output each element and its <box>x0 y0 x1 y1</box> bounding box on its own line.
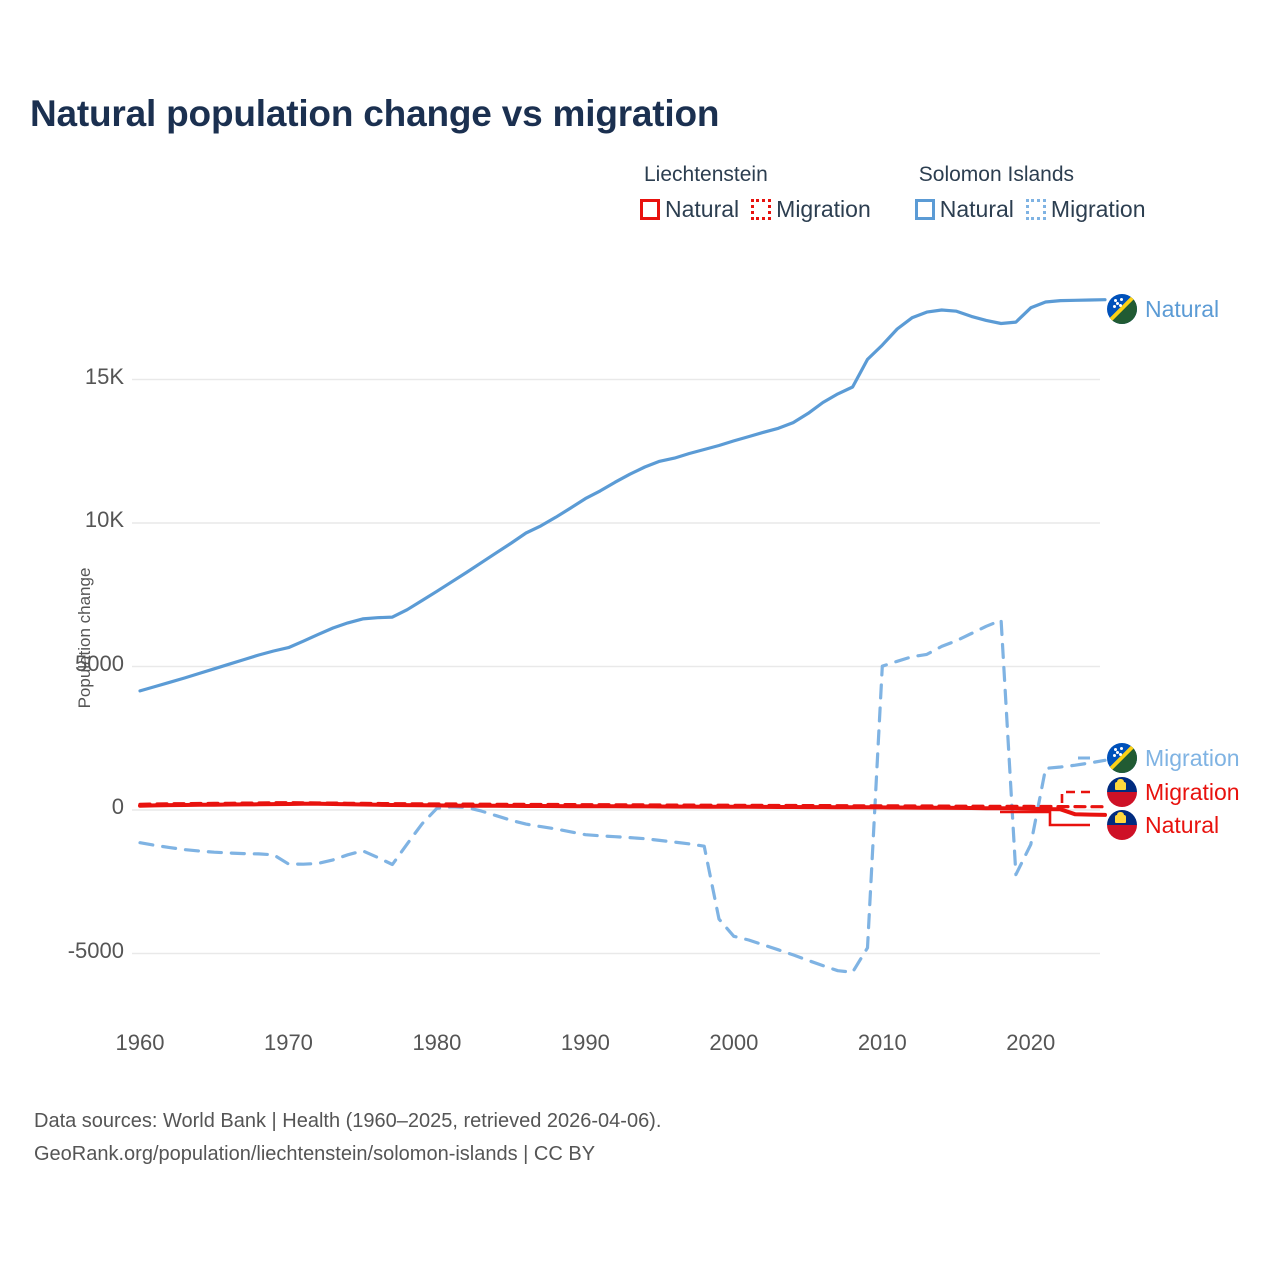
y-tick-label: 0 <box>14 794 124 820</box>
chart-svg <box>0 0 1280 1280</box>
liechtenstein-flag-icon <box>1107 810 1137 840</box>
x-tick-label: 1990 <box>525 1030 645 1056</box>
y-tick-label: 15K <box>14 364 124 390</box>
footer-line-2: GeoRank.org/population/liechtenstein/sol… <box>34 1138 661 1171</box>
y-tick-label: -5000 <box>14 938 124 964</box>
y-tick-label: 10K <box>14 507 124 533</box>
end-label-solomon-natural[interactable]: Natural <box>1107 294 1219 324</box>
end-label-text: Natural <box>1145 296 1219 323</box>
x-tick-label: 2010 <box>822 1030 942 1056</box>
y-tick-label: 5000 <box>14 651 124 677</box>
solomon-islands-flag-icon <box>1107 294 1137 324</box>
end-label-text: Migration <box>1145 745 1240 772</box>
y-axis-title: Population change <box>75 538 95 738</box>
end-label-text: Natural <box>1145 812 1219 839</box>
end-label-text: Migration <box>1145 779 1240 806</box>
leader-liechtenstein-migration <box>1062 792 1090 806</box>
end-label-liechtenstein-natural[interactable]: Natural <box>1107 810 1219 840</box>
x-tick-label: 2020 <box>971 1030 1091 1056</box>
liechtenstein-flag-icon <box>1107 777 1137 807</box>
chart-plot-area <box>0 0 1280 1280</box>
x-tick-label: 1970 <box>228 1030 348 1056</box>
x-tick-label: 2000 <box>674 1030 794 1056</box>
solomon-islands-flag-icon <box>1107 743 1137 773</box>
footer-attribution: Data sources: World Bank | Health (1960–… <box>34 1105 661 1171</box>
end-label-solomon-migration[interactable]: Migration <box>1107 743 1240 773</box>
series-line-solomon-islands-natural <box>140 300 1105 691</box>
series-line-solomon-islands-migration <box>140 620 1105 972</box>
footer-line-1: Data sources: World Bank | Health (1960–… <box>34 1105 661 1138</box>
end-label-liechtenstein-migration[interactable]: Migration <box>1107 777 1240 807</box>
x-tick-label: 1960 <box>80 1030 200 1056</box>
x-tick-label: 1980 <box>377 1030 497 1056</box>
